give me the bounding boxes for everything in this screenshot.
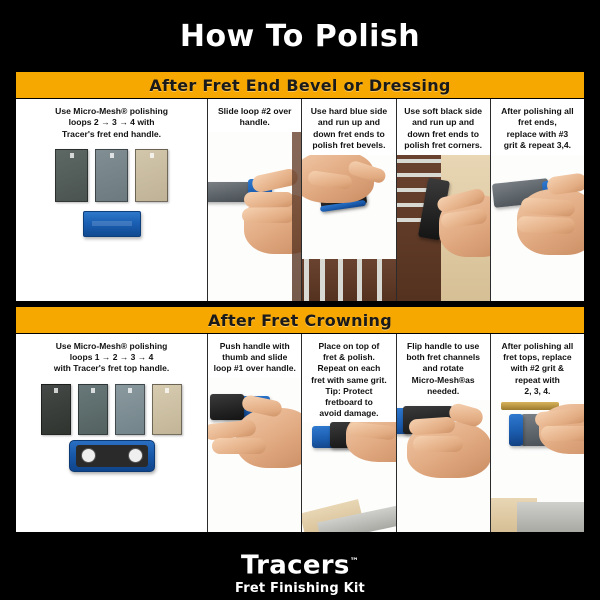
abrasive-loop — [115, 384, 145, 435]
caption-line: thumb and slide — [213, 352, 296, 363]
step-caption-2-5: After polishing all fret tops, replace w… — [491, 334, 584, 400]
caption-line: both fret channels — [402, 352, 485, 363]
micro-mesh-loop-set — [16, 149, 207, 202]
step-art-1-4 — [397, 155, 490, 301]
step-panel-1-3: Use hard blue side and run up and down f… — [301, 99, 395, 301]
caption-line: and run up and — [307, 117, 390, 128]
caption-line: Use hard blue side — [307, 106, 390, 117]
abrasive-loop — [55, 149, 88, 202]
photo-fret-bevel-polish — [302, 155, 395, 301]
caption-line: Place on top of — [307, 341, 390, 352]
photo-polish-fret-tops — [491, 400, 584, 532]
trademark-symbol: ™ — [350, 557, 359, 567]
step-caption-2-1: Use Micro-Mesh® polishing loops 1 → 2 → … — [16, 334, 207, 378]
fret-wire — [357, 259, 362, 301]
handle-core — [76, 445, 148, 467]
caption-line: with #2 grit & — [496, 363, 579, 374]
step-caption-1-3: Use hard blue side and run up and down f… — [302, 99, 395, 155]
fret-wire — [304, 259, 309, 301]
caption-line: grit & repeat 3,4. — [496, 140, 579, 151]
caption-line: Repeat on each — [307, 363, 390, 374]
step-panel-2-5: After polishing all fret tops, replace w… — [490, 334, 584, 532]
photo-hand-holding-tool — [491, 155, 584, 301]
handle-edge — [509, 414, 523, 446]
fret-wire — [397, 173, 441, 177]
caption-line: After polishing all — [496, 341, 579, 352]
page-title: How To Polish — [180, 19, 420, 54]
caption-line: replace with #3 — [496, 129, 579, 140]
fret-channel — [128, 448, 143, 463]
step-caption-2-2: Push handle with thumb and slide loop #1… — [208, 334, 301, 378]
caption-line: Slide loop #2 over — [213, 106, 296, 117]
caption-line: Tracer's fret end handle. — [21, 129, 202, 140]
caption-line: avoid damage. — [307, 408, 390, 419]
brand-subtitle: Fret Finishing Kit — [235, 581, 365, 596]
caption-line: down fret ends to — [307, 129, 390, 140]
step-art-1-3 — [302, 155, 395, 301]
step-caption-1-5: After polishing all fret ends, replace w… — [491, 99, 584, 155]
step-art-1-2 — [208, 132, 301, 301]
section-band-1-label: After Fret End Bevel or Dressing — [149, 76, 450, 95]
finger — [242, 208, 294, 223]
caption-line: loop #1 over handle. — [213, 363, 296, 374]
step-art-2-3 — [302, 422, 395, 532]
caption-line: and run up and — [402, 117, 485, 128]
step-caption-2-4: Flip handle to use both fret channels an… — [397, 334, 490, 400]
fret-end-handle — [83, 211, 141, 237]
footer-branding: Tracers™ Fret Finishing Kit — [0, 544, 600, 600]
finger — [517, 216, 576, 234]
caption-line: fret & polish. — [307, 352, 390, 363]
fret-wire — [397, 159, 441, 163]
caption-line: fretboard to — [307, 397, 390, 408]
caption-line: Flip handle to use — [402, 341, 485, 352]
photo-tool-on-fret — [302, 422, 395, 532]
caption-line: down fret ends to — [402, 129, 485, 140]
caption-line: fret with same grit. — [307, 375, 390, 386]
photo-push-handle — [208, 378, 301, 532]
step-panel-2-2: Push handle with thumb and slide loop #1… — [207, 334, 301, 532]
caption-line: Tip: Protect — [307, 386, 390, 397]
step-caption-1-1: Use Micro-Mesh® polishing loops 2 → 3 → … — [16, 99, 207, 143]
finger — [244, 192, 294, 207]
brand-name: Tracers™ — [241, 548, 359, 580]
caption-line: 2, 3, 4. — [496, 386, 579, 397]
step-art-1-1 — [16, 143, 207, 301]
caption-line: fret ends, — [496, 117, 579, 128]
abrasive-loop — [210, 394, 244, 420]
abrasive-loop — [95, 149, 128, 202]
fretboard-edge — [292, 132, 301, 301]
caption-line: fret tops, replace — [496, 352, 579, 363]
caption-line: After polishing all — [496, 106, 579, 117]
work-surface — [517, 502, 584, 532]
brand-text: Tracers — [241, 551, 350, 581]
step-panel-2-4: Flip handle to use both fret channels an… — [396, 334, 490, 532]
step-panel-2-3: Place on top of fret & polish. Repeat on… — [301, 334, 395, 532]
photo-sliding-loop — [208, 132, 301, 301]
step-panel-1-5: After polishing all fret ends, replace w… — [490, 99, 584, 301]
finger — [413, 436, 463, 452]
poster: How To Polish After Fret End Bevel or Dr… — [0, 0, 600, 600]
step-panel-1-2: Slide loop #2 over handle. — [207, 99, 301, 301]
abrasive-loop — [135, 149, 168, 202]
photo-fret-corner-polish — [397, 155, 490, 301]
step-panel-2-1: Use Micro-Mesh® polishing loops 1 → 2 → … — [16, 334, 207, 532]
micro-mesh-loop-set — [16, 384, 207, 435]
caption-line: Use soft black side — [402, 106, 485, 117]
section-1-panels: Use Micro-Mesh® polishing loops 2 → 3 → … — [16, 98, 584, 301]
finger — [408, 416, 455, 435]
step-art-2-4 — [397, 400, 490, 532]
step-caption-1-4: Use soft black side and run up and down … — [397, 99, 490, 155]
abrasive-loop — [152, 384, 182, 435]
step-caption-1-2: Slide loop #2 over handle. — [208, 99, 301, 132]
step-caption-2-3: Place on top of fret & polish. Repeat on… — [302, 334, 395, 422]
section-band-1: After Fret End Bevel or Dressing — [16, 72, 584, 98]
step-panel-1-4: Use soft black side and run up and down … — [396, 99, 490, 301]
step-art-2-2 — [208, 378, 301, 532]
fret-wire — [338, 259, 343, 301]
fret-top-handle — [69, 440, 155, 472]
fret-wire — [320, 259, 325, 301]
caption-line: polish fret corners. — [402, 140, 485, 151]
title-bar: How To Polish — [0, 0, 600, 72]
section-band-2-label: After Fret Crowning — [208, 311, 392, 330]
caption-line: Push handle with — [213, 341, 296, 352]
caption-line: loops 2 → 3 → 4 with — [21, 117, 202, 128]
finger — [520, 197, 575, 217]
fret-channel — [81, 448, 96, 463]
fret-wire — [377, 259, 382, 301]
caption-line: Use Micro-Mesh® polishing — [21, 341, 202, 352]
finger — [541, 426, 584, 441]
caption-line: Micro-Mesh®as — [402, 375, 485, 386]
step-panel-1-1: Use Micro-Mesh® polishing loops 2 → 3 → … — [16, 99, 207, 301]
caption-line: repeat with — [496, 375, 579, 386]
abrasive-loop — [41, 384, 71, 435]
abrasive-loop — [78, 384, 108, 435]
finger — [212, 438, 266, 454]
caption-line: handle. — [213, 117, 296, 128]
caption-line: polish fret bevels. — [307, 140, 390, 151]
photo-flip-handle — [397, 400, 490, 532]
caption-line: Use Micro-Mesh® polishing — [21, 106, 202, 117]
step-art-1-5 — [491, 155, 584, 301]
step-art-2-5 — [491, 400, 584, 532]
caption-line: needed. — [402, 386, 485, 397]
section-2-panels: Use Micro-Mesh® polishing loops 1 → 2 → … — [16, 333, 584, 532]
section-band-2: After Fret Crowning — [16, 307, 584, 333]
caption-line: with Tracer's fret top handle. — [21, 363, 202, 374]
caption-line: and rotate — [402, 363, 485, 374]
step-art-2-1 — [16, 378, 207, 532]
caption-line: loops 1 → 2 → 3 → 4 — [21, 352, 202, 363]
